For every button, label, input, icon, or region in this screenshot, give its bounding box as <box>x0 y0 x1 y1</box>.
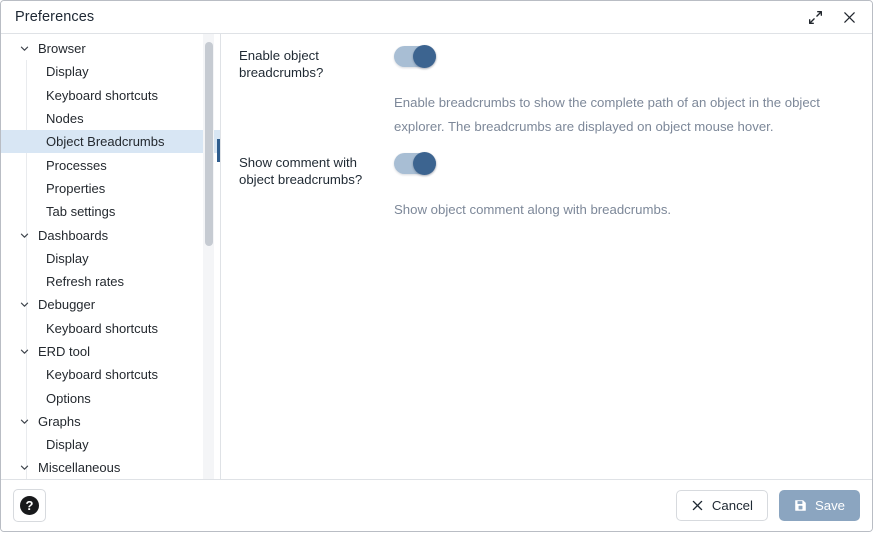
sidebar-item-browser[interactable]: Browser <box>1 37 220 60</box>
preferences-sidebar: BrowserDisplayKeyboard shortcutsNodesObj… <box>1 34 221 479</box>
sidebar-item-label: Processes <box>46 158 107 173</box>
sidebar-scrollbar-thumb[interactable] <box>205 42 213 246</box>
footer-actions: Cancel Save <box>676 490 860 521</box>
dialog-title: Preferences <box>15 9 802 25</box>
preferences-tree: BrowserDisplayKeyboard shortcutsNodesObj… <box>1 34 220 479</box>
sidebar-item-object-breadcrumbs[interactable]: Object Breadcrumbs <box>1 130 220 153</box>
sidebar-item-label: Keyboard shortcuts <box>46 321 158 336</box>
toggle-knob <box>413 152 436 175</box>
preference-field-help-text: Show object comment along with breadcrum… <box>394 198 856 222</box>
sidebar-item-display[interactable]: Display <box>1 247 220 270</box>
sidebar-item-miscellaneous[interactable]: Miscellaneous <box>1 456 220 479</box>
question-mark-icon: ? <box>20 496 39 515</box>
chevron-down-icon[interactable] <box>17 42 31 56</box>
sidebar-item-label: Keyboard shortcuts <box>46 88 158 103</box>
sidebar-item-label: Display <box>46 251 89 266</box>
sidebar-item-label: Tab settings <box>46 204 115 219</box>
preferences-dialog: Preferences BrowserDisplayKeyboard short… <box>0 0 873 532</box>
sidebar-item-dashboards[interactable]: Dashboards <box>1 223 220 246</box>
save-button[interactable]: Save <box>779 490 860 521</box>
sidebar-item-label: Object Breadcrumbs <box>46 134 165 149</box>
cancel-button[interactable]: Cancel <box>676 490 768 521</box>
sidebar-item-label: Display <box>46 437 89 452</box>
preference-field-row: Enable object breadcrumbs? <box>239 46 856 81</box>
preference-field-row: Show comment with object breadcrumbs? <box>239 153 856 188</box>
sidebar-item-label: Display <box>46 64 89 79</box>
sidebar-item-keyboard-shortcuts[interactable]: Keyboard shortcuts <box>1 363 220 386</box>
sidebar-item-erd-tool[interactable]: ERD tool <box>1 340 220 363</box>
chevron-down-icon[interactable] <box>17 414 31 428</box>
sidebar-item-display[interactable]: Display <box>1 60 220 83</box>
sidebar-item-keyboard-shortcuts[interactable]: Keyboard shortcuts <box>1 84 220 107</box>
sidebar-item-label: Options <box>46 391 91 406</box>
preference-field-control <box>394 153 856 179</box>
sidebar-item-label: Miscellaneous <box>38 460 120 475</box>
sidebar-item-properties[interactable]: Properties <box>1 177 220 200</box>
sidebar-item-label: Nodes <box>46 111 84 126</box>
chevron-down-icon[interactable] <box>17 298 31 312</box>
preferences-content-panel: Enable object breadcrumbs?Enable breadcr… <box>221 34 872 479</box>
sidebar-item-options[interactable]: Options <box>1 386 220 409</box>
close-x-icon <box>691 499 704 512</box>
toggle-switch[interactable] <box>394 46 436 67</box>
title-bar-actions <box>802 4 862 30</box>
preference-field-label: Show comment with object breadcrumbs? <box>239 153 394 188</box>
preference-field-control <box>394 46 856 72</box>
expand-diagonal-icon[interactable] <box>802 4 828 30</box>
preference-field-label: Enable object breadcrumbs? <box>239 46 394 81</box>
sidebar-item-refresh-rates[interactable]: Refresh rates <box>1 270 220 293</box>
sidebar-item-label: Refresh rates <box>46 274 124 289</box>
chevron-down-icon[interactable] <box>17 461 31 475</box>
selected-item-accent-bar <box>217 139 220 162</box>
toggle-knob <box>413 45 436 68</box>
sidebar-item-label: ERD tool <box>38 344 90 359</box>
chevron-down-icon[interactable] <box>17 228 31 242</box>
sidebar-item-label: Debugger <box>38 297 95 312</box>
sidebar-item-graphs[interactable]: Graphs <box>1 410 220 433</box>
dialog-body: BrowserDisplayKeyboard shortcutsNodesObj… <box>1 34 872 479</box>
sidebar-item-label: Browser <box>38 41 86 56</box>
sidebar-item-debugger[interactable]: Debugger <box>1 293 220 316</box>
sidebar-item-label: Keyboard shortcuts <box>46 367 158 382</box>
close-icon[interactable] <box>836 4 862 30</box>
cancel-button-label: Cancel <box>712 498 753 513</box>
sidebar-item-tab-settings[interactable]: Tab settings <box>1 200 220 223</box>
preference-field: Show comment with object breadcrumbs?Sho… <box>239 153 856 222</box>
preference-field: Enable object breadcrumbs?Enable breadcr… <box>239 46 856 139</box>
help-button[interactable]: ? <box>13 489 46 522</box>
save-button-label: Save <box>815 498 845 513</box>
sidebar-item-label: Dashboards <box>38 228 108 243</box>
floppy-disk-icon <box>794 499 807 512</box>
toggle-switch[interactable] <box>394 153 436 174</box>
sidebar-item-keyboard-shortcuts[interactable]: Keyboard shortcuts <box>1 317 220 340</box>
sidebar-item-label: Properties <box>46 181 105 196</box>
sidebar-item-nodes[interactable]: Nodes <box>1 107 220 130</box>
chevron-down-icon[interactable] <box>17 345 31 359</box>
sidebar-item-processes[interactable]: Processes <box>1 153 220 176</box>
sidebar-item-display[interactable]: Display <box>1 433 220 456</box>
dialog-footer: ? Cancel Save <box>1 479 872 531</box>
title-bar: Preferences <box>1 1 872 34</box>
sidebar-scrollbar-track[interactable] <box>203 34 214 479</box>
sidebar-item-label: Graphs <box>38 414 81 429</box>
preference-field-help-text: Enable breadcrumbs to show the complete … <box>394 91 856 139</box>
